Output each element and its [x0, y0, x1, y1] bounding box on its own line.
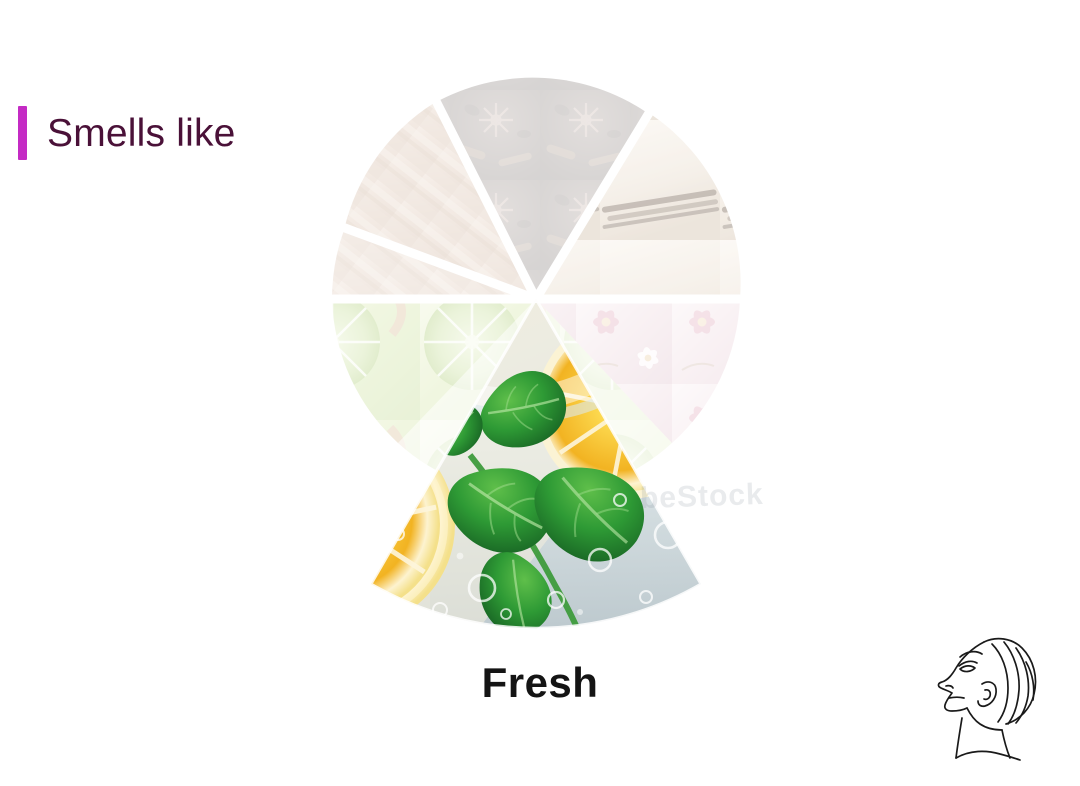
face-profile-sniffing-icon	[922, 618, 1062, 768]
highlighted-slice-label-wrapper: Fresh	[0, 659, 1080, 707]
face-profile-svg	[922, 618, 1062, 768]
highlighted-slice-label: Fresh	[482, 659, 599, 707]
pie-slice-fresh-highlighted[interactable]	[200, 260, 880, 660]
